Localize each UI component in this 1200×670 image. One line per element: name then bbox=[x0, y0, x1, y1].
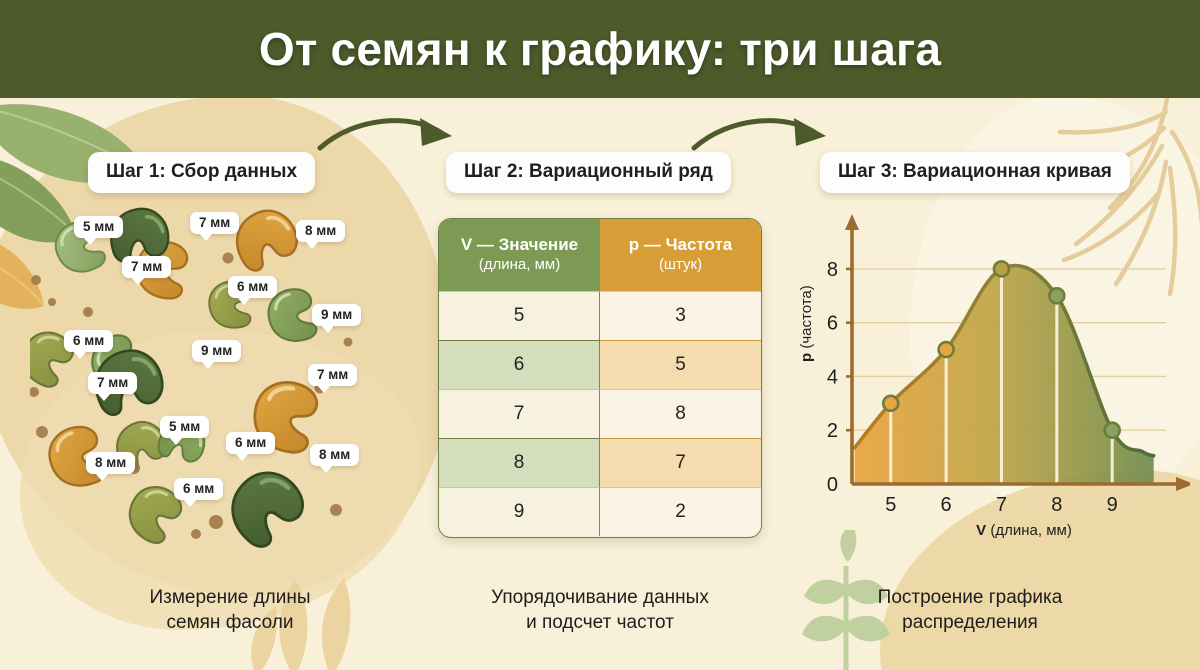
table-header-freq-main: p — Частота bbox=[629, 235, 733, 256]
bean-measurement-label: 8 мм bbox=[296, 220, 345, 242]
svg-text:6: 6 bbox=[827, 313, 838, 335]
beans-illustration-panel: 5 мм 7 мм 7 мм 8 мм 6 мм 9 мм 6 мм 9 мм … bbox=[30, 196, 430, 566]
table-header-value-sub: (длина, мм) bbox=[479, 256, 560, 274]
bean-measurement-label: 7 мм bbox=[190, 212, 239, 234]
table-row: 7 8 bbox=[439, 389, 761, 438]
bean-measurement-label: 8 мм bbox=[86, 452, 135, 474]
bean-measurement-label: 6 мм bbox=[174, 478, 223, 500]
step-1-chip[interactable]: Шаг 1: Сбор данных bbox=[88, 152, 315, 193]
chart-area-fill bbox=[855, 266, 1154, 484]
page-header: От семян к графику: три шага bbox=[0, 0, 1200, 98]
table-cell-value: 6 bbox=[439, 340, 600, 389]
step-2-caption-line2: и подсчет частот bbox=[430, 610, 770, 635]
table-cell-value: 7 bbox=[439, 389, 600, 438]
table-row: 9 2 bbox=[439, 487, 761, 536]
chart-y-axis-label-symbol: p bbox=[798, 353, 815, 362]
bean-measurement-label: 8 мм bbox=[310, 444, 359, 466]
chart-x-axis-label-symbol: V bbox=[976, 522, 986, 539]
variation-series-table: V — Значение (длина, мм) p — Частота (шт… bbox=[438, 218, 762, 538]
step-3-chip[interactable]: Шаг 3: Вариационная кривая bbox=[820, 152, 1130, 193]
table-cell-freq: 8 bbox=[600, 389, 761, 438]
table-cell-freq: 5 bbox=[600, 340, 761, 389]
step-2-caption-line1: Упорядочивание данных bbox=[430, 585, 770, 610]
step-2-caption: Упорядочивание данных и подсчет частот bbox=[430, 585, 770, 636]
step-3-caption-line2: распределения bbox=[800, 610, 1140, 635]
table-header-value: V — Значение (длина, мм) bbox=[439, 219, 600, 291]
page-title: От семян к графику: три шага bbox=[259, 22, 941, 76]
table-cell-freq: 7 bbox=[600, 438, 761, 487]
bean-measurement-label: 6 мм bbox=[228, 276, 277, 298]
table-header-row: V — Значение (длина, мм) p — Частота (шт… bbox=[439, 219, 761, 291]
bean-measurement-label: 6 мм bbox=[64, 330, 113, 352]
table-row: 5 3 bbox=[439, 291, 761, 340]
svg-text:9: 9 bbox=[1107, 494, 1118, 516]
chart-y-axis-label: p (частота) bbox=[798, 285, 815, 362]
chart-x-tick-labels: 56789 bbox=[885, 494, 1118, 516]
svg-text:6: 6 bbox=[941, 494, 952, 516]
bean-measurement-label: 5 мм bbox=[160, 416, 209, 438]
table-cell-value: 5 bbox=[439, 291, 600, 340]
table-header-value-main: V — Значение bbox=[461, 235, 578, 256]
table-cell-freq: 3 bbox=[600, 291, 761, 340]
table-cell-value: 8 bbox=[439, 438, 600, 487]
chart-y-tick-labels: 02468 bbox=[827, 259, 838, 496]
chart-y-axis-label-text: (частота) bbox=[798, 285, 815, 353]
svg-text:5: 5 bbox=[885, 494, 896, 516]
svg-text:0: 0 bbox=[827, 474, 838, 496]
bean-measurement-label: 6 мм bbox=[226, 432, 275, 454]
step-3-caption-line1: Построение графика bbox=[800, 585, 1140, 610]
bean-measurement-label: 7 мм bbox=[308, 364, 357, 386]
step-1-caption-line2: семян фасоли bbox=[60, 610, 400, 635]
step-3-caption: Построение графика распределения bbox=[800, 585, 1140, 636]
svg-text:4: 4 bbox=[827, 366, 838, 388]
step-1-caption-line1: Измерение длины bbox=[60, 585, 400, 610]
variation-curve-chart: 02468 56789 p (частота) V (длина, мм) bbox=[790, 212, 1190, 552]
bean-measurement-label: 7 мм bbox=[88, 372, 137, 394]
bean-measurement-label: 5 мм bbox=[74, 216, 123, 238]
svg-text:7: 7 bbox=[996, 494, 1007, 516]
bean-measurement-label: 9 мм bbox=[312, 304, 361, 326]
arrow-right-curved-icon bbox=[316, 112, 466, 158]
table-cell-freq: 2 bbox=[600, 487, 761, 536]
table-row: 8 7 bbox=[439, 438, 761, 487]
table-cell-value: 9 bbox=[439, 487, 600, 536]
svg-text:8: 8 bbox=[827, 259, 838, 281]
infographic-canvas: От семян к графику: три шага Шаг 1: Сбор… bbox=[0, 0, 1200, 670]
table-row: 6 5 bbox=[439, 340, 761, 389]
chart-x-axis-label: V (длина, мм) bbox=[874, 522, 1174, 539]
svg-text:2: 2 bbox=[827, 420, 838, 442]
chart-x-axis-label-text: (длина, мм) bbox=[986, 522, 1072, 539]
chart-plot-area: 02468 56789 bbox=[790, 212, 1190, 522]
table-header-freq-sub: (штук) bbox=[659, 256, 702, 274]
svg-text:8: 8 bbox=[1051, 494, 1062, 516]
bean-measurement-label: 9 мм bbox=[192, 340, 241, 362]
table-header-freq: p — Частота (штук) bbox=[600, 219, 761, 291]
bean-measurement-label: 7 мм bbox=[122, 256, 171, 278]
step-2-chip[interactable]: Шаг 2: Вариационный ряд bbox=[446, 152, 731, 193]
step-1-caption: Измерение длины семян фасоли bbox=[60, 585, 400, 636]
